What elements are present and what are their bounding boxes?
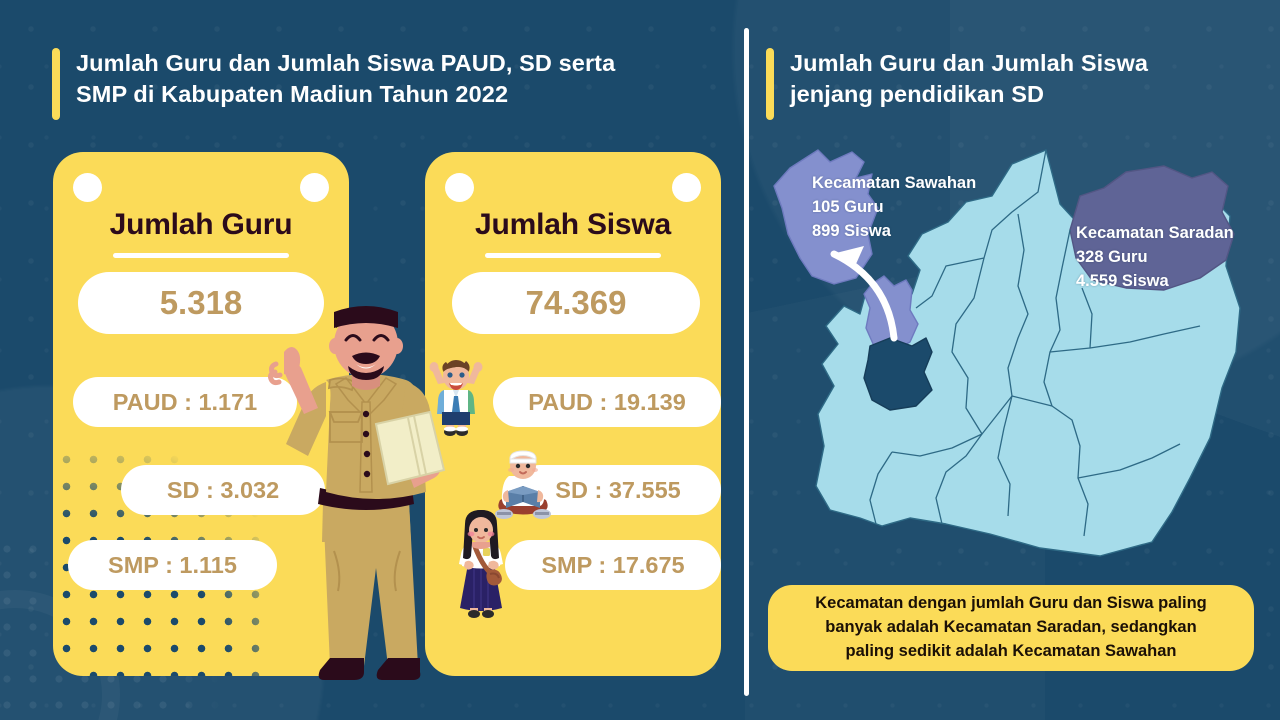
vertical-divider	[744, 28, 749, 696]
left-panel-title: Jumlah Guru dan Jumlah Siswa PAUD, SD se…	[52, 48, 712, 120]
map-label-sawahan: Kecamatan Sawahan 105 Guru 899 Siswa	[812, 172, 976, 244]
guru-paud-value: PAUD : 1.171	[73, 377, 297, 427]
card-hole-left-icon	[445, 173, 474, 202]
siswa-paud-value: PAUD : 19.139	[493, 377, 721, 427]
map-region-dark-patch	[864, 338, 932, 410]
right-title-text: Jumlah Guru dan Jumlah Siswa jenjang pen…	[790, 48, 1148, 111]
guru-smp-value: SMP : 1.115	[68, 540, 277, 590]
map-label-saradan: Kecamatan Saradan 328 Guru 4.559 Siswa	[1076, 222, 1234, 294]
card-underline	[113, 253, 289, 258]
card-hole-right-icon	[672, 173, 701, 202]
siswa-smp-value: SMP : 17.675	[505, 540, 721, 590]
student-paud-illustration-icon	[428, 358, 484, 436]
card-underline	[485, 253, 661, 258]
title-accent-bar	[52, 48, 60, 120]
card-title-guru: Jumlah Guru	[53, 208, 349, 242]
right-panel-title: Jumlah Guru dan Jumlah Siswa jenjang pen…	[766, 48, 1236, 120]
student-smp-illustration-icon	[452, 508, 510, 620]
card-hole-right-icon	[300, 173, 329, 202]
title-accent-bar	[766, 48, 774, 120]
map-summary-callout: Kecamatan dengan jumlah Guru dan Siswa p…	[768, 585, 1254, 671]
card-hole-left-icon	[73, 173, 102, 202]
siswa-total-value: 74.369	[452, 272, 700, 334]
left-title-text: Jumlah Guru dan Jumlah Siswa PAUD, SD se…	[76, 48, 615, 111]
card-title-siswa: Jumlah Siswa	[425, 208, 721, 242]
